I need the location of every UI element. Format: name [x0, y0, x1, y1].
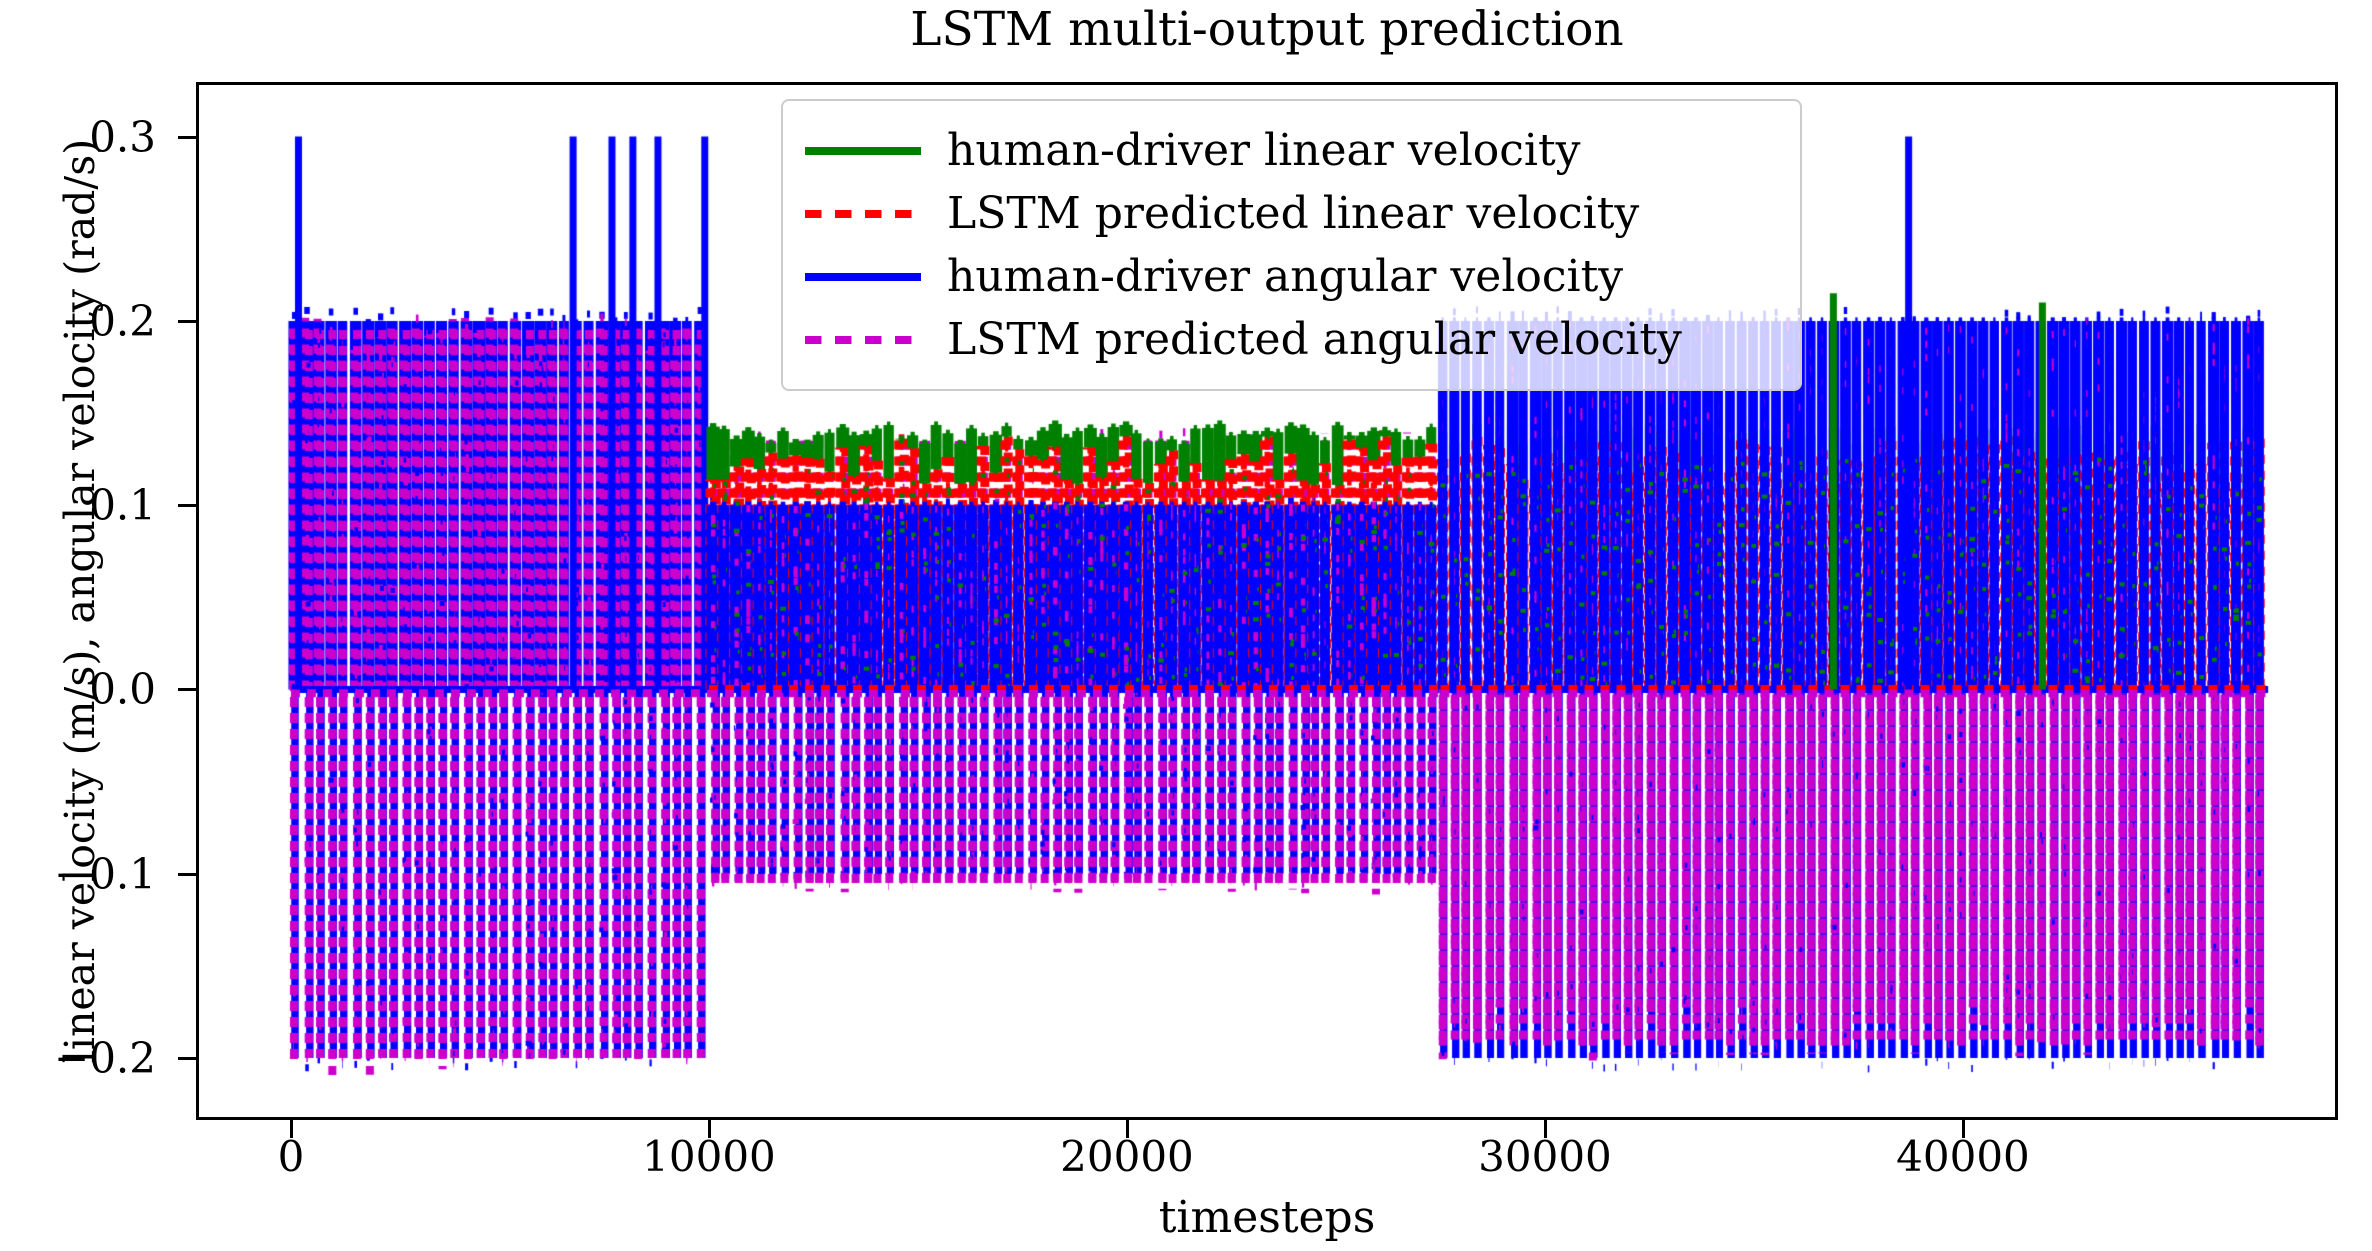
x-tick-mark — [1126, 1120, 1129, 1138]
x-tick-label: 30000 — [1478, 1132, 1612, 1181]
legend-entry: human-driver linear velocity — [805, 119, 1778, 182]
legend-line-icon — [805, 210, 921, 218]
legend-label: human-driver linear velocity — [947, 129, 1581, 173]
x-tick-mark — [1544, 1120, 1547, 1138]
legend-swatch-human-driver-linear-velocity — [805, 131, 921, 171]
legend-line-icon — [805, 147, 921, 155]
legend-swatch-lstm-predicted-angular-velocity — [805, 320, 921, 360]
legend-label: human-driver angular velocity — [947, 255, 1623, 299]
y-tick-mark — [178, 504, 196, 507]
chart-title: LSTM multi-output prediction — [196, 6, 2338, 53]
legend-line-icon — [805, 273, 921, 281]
legend-label: LSTM predicted linear velocity — [947, 192, 1639, 236]
legend-entry: LSTM predicted linear velocity — [805, 182, 1778, 245]
x-tick-label: 0 — [278, 1132, 305, 1181]
x-tick-label: 20000 — [1060, 1132, 1194, 1181]
y-tick-mark — [178, 873, 196, 876]
figure-canvas: LSTM multi-output prediction 0.30.20.10.… — [0, 0, 2372, 1251]
x-tick-label: 10000 — [642, 1132, 776, 1181]
y-tick-mark — [178, 320, 196, 323]
x-tick-mark — [290, 1120, 293, 1138]
legend-swatch-human-driver-angular-velocity — [805, 257, 921, 297]
legend-line-icon — [805, 336, 921, 344]
chart-legend: human-driver linear velocity LSTM predic… — [781, 99, 1802, 391]
legend-swatch-lstm-predicted-linear-velocity — [805, 194, 921, 234]
x-tick-label: 40000 — [1896, 1132, 2030, 1181]
x-axis-label: timesteps — [196, 1192, 2338, 1243]
x-tick-mark — [708, 1120, 711, 1138]
y-tick-mark — [178, 1057, 196, 1060]
legend-entry: human-driver angular velocity — [805, 245, 1778, 308]
legend-label: LSTM predicted angular velocity — [947, 318, 1682, 362]
y-tick-mark — [178, 688, 196, 691]
x-tick-mark — [1962, 1120, 1965, 1138]
y-tick-mark — [178, 136, 196, 139]
legend-entry: LSTM predicted angular velocity — [805, 308, 1778, 371]
y-axis-label: linear velocity (m/s), angular velocity … — [52, 82, 108, 1120]
